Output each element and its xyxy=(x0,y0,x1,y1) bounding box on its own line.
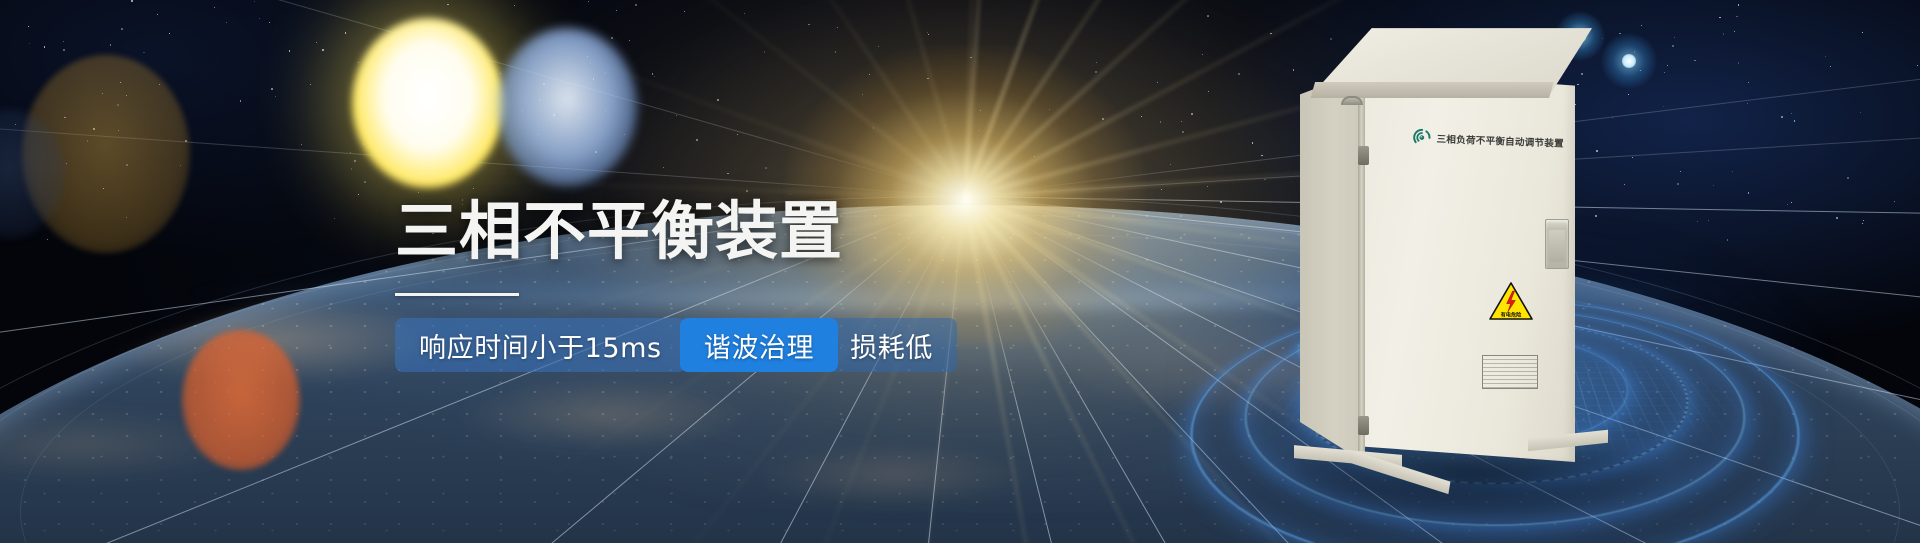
cabinet-handle xyxy=(1341,96,1363,105)
cabinet-vent-grille xyxy=(1482,355,1538,389)
cabinet-nameplate-text: 三相负荷不平衡自动调节装置 xyxy=(1436,131,1564,150)
bokeh-orb-orange xyxy=(182,330,300,470)
company-logo-icon xyxy=(1412,126,1432,149)
cabinet-hinge-bottom xyxy=(1358,416,1369,435)
title-divider xyxy=(395,293,519,296)
feature-tag[interactable]: 响应时间小于15ms xyxy=(395,318,686,372)
cabinet-side-panel xyxy=(1300,71,1362,461)
feature-tag[interactable]: 损耗低 xyxy=(826,318,957,372)
bokeh-orb-blue xyxy=(497,28,637,186)
warning-triangle-icon: 有电危险 xyxy=(1488,281,1534,322)
cabinet-lock-plate xyxy=(1545,219,1569,269)
banner-title: 三相不平衡装置 xyxy=(395,200,1115,263)
hero-banner: 三相负荷不平衡自动调节装置 有电危险 三相不平衡装置 响应时间小于15ms谐波治… xyxy=(0,0,1920,543)
banner-copy: 三相不平衡装置 响应时间小于15ms谐波治理损耗低 xyxy=(395,200,1115,372)
feature-tag[interactable]: 谐波治理 xyxy=(680,318,838,372)
bokeh-orb-white xyxy=(352,18,504,188)
feature-tag-list: 响应时间小于15ms谐波治理损耗低 xyxy=(395,318,1115,372)
product-cabinet: 三相负荷不平衡自动调节装置 有电危险 xyxy=(1300,26,1630,516)
cabinet-hinge-top xyxy=(1358,146,1369,165)
cabinet-door-seam xyxy=(1358,74,1365,460)
cabinet-roof-edge xyxy=(1286,82,1592,98)
electrical-hazard-warning-sticker: 有电危险 xyxy=(1488,281,1534,322)
svg-text:有电危险: 有电危险 xyxy=(1501,310,1523,318)
